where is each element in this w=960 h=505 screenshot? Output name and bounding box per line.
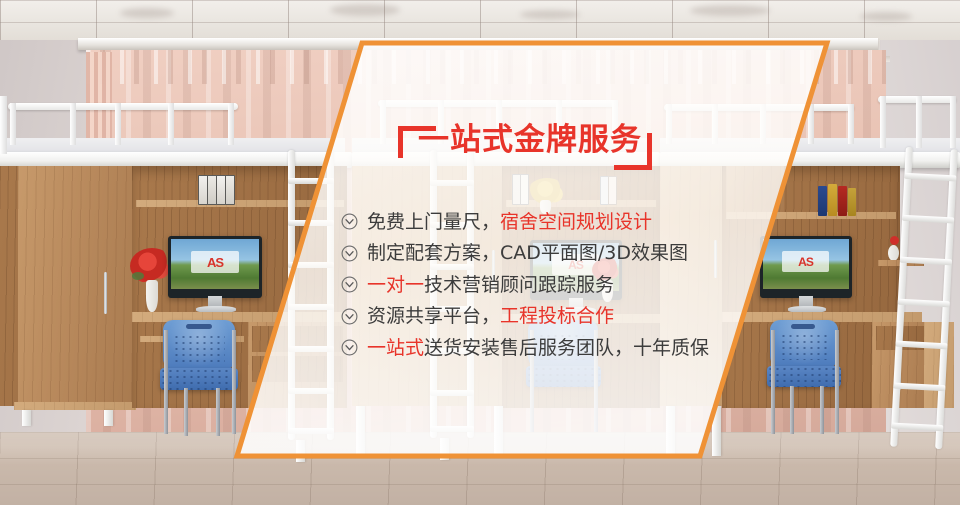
feature-text-highlight: 宿舍空间规划设计 (500, 211, 652, 233)
feature-text-highlight: 一对一 (367, 274, 424, 296)
feature-text-highlight: 工程投标合作 (500, 305, 614, 327)
list-item: 制定配套方案，CAD平面图/3D效果图 (341, 238, 741, 270)
title-block: 一站式金牌服务 (396, 120, 666, 180)
circled-chevron-down-icon (341, 308, 358, 325)
list-item: 免费上门量尺，宿舍空间规划设计 (341, 206, 741, 238)
feature-text-plain: 资源共享平台， (367, 305, 500, 327)
feature-text-plain: 送货安装售后服务团队，十年质保 (424, 337, 709, 359)
feature-list: 免费上门量尺，宿舍空间规划设计 制定配套方案，CAD平面图/3D效果图 (341, 206, 741, 364)
list-item-label: 制定配套方案，CAD平面图/3D效果图 (367, 242, 688, 264)
circled-chevron-down-icon (341, 339, 358, 356)
banner-stage: AS (0, 0, 960, 505)
feature-text-plain: 技术营销顾问跟踪服务 (424, 274, 614, 296)
list-item-label: 免费上门量尺，宿舍空间规划设计 (367, 211, 652, 233)
circled-chevron-down-icon (341, 276, 358, 293)
circled-chevron-down-icon (341, 245, 358, 262)
list-item: 一站式送货安装售后服务团队，十年质保 (341, 332, 741, 364)
circled-chevron-down-icon (341, 213, 358, 230)
list-item-label: 一对一技术营销顾问跟踪服务 (367, 274, 614, 296)
feature-text-plain: 免费上门量尺， (367, 211, 500, 233)
feature-text-highlight: 一站式 (367, 337, 424, 359)
list-item-label: 资源共享平台，工程投标合作 (367, 305, 614, 327)
list-item-label: 一站式送货安装售后服务团队，十年质保 (367, 337, 709, 359)
page-title: 一站式金牌服务 (418, 122, 642, 158)
feature-text-plain: 制定配套方案，CAD平面图/3D效果图 (367, 242, 688, 264)
list-item: 资源共享平台，工程投标合作 (341, 301, 741, 333)
banner-content: 一站式金牌服务 免费上门量尺，宿舍空间规划设计 (0, 0, 960, 505)
list-item: 一对一技术营销顾问跟踪服务 (341, 269, 741, 301)
